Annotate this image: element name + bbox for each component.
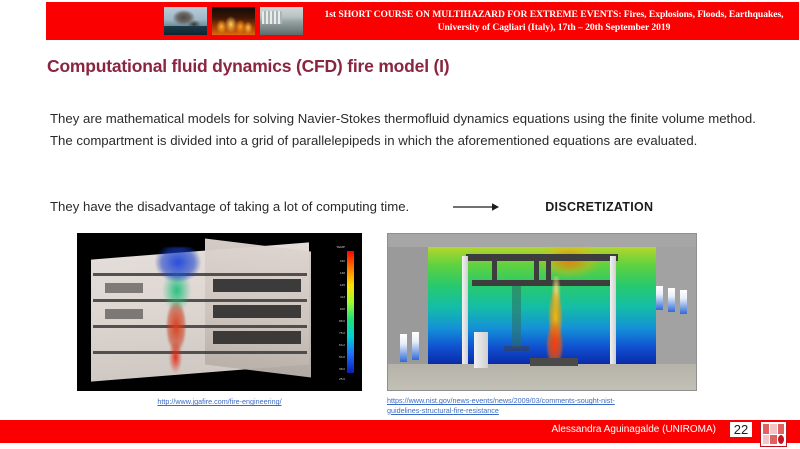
flood-thumbnail — [260, 7, 303, 35]
logo-grid — [763, 424, 784, 444]
temperature-colorbar: TEMP 150 138 125 113 100 88.0 75.0 63.2 … — [316, 241, 356, 383]
room-floor — [388, 364, 696, 390]
support-post-right — [610, 256, 616, 364]
logo-cell — [770, 424, 776, 434]
colorbar-gradient — [347, 251, 354, 373]
window-opening — [680, 290, 687, 314]
colorbar-tick: 150 — [340, 259, 345, 263]
course-title-line-1: 1st SHORT COURSE ON MULTIHAZARD FOR EXTR… — [317, 8, 791, 21]
colorbar-unit-label: TEMP — [336, 245, 345, 249]
left-figure-source-link[interactable]: http://www.jgafire.com/fire-engineering/ — [77, 397, 362, 406]
course-title-line-2: University of Cagliari (Italy), 17th – 2… — [317, 21, 791, 34]
header-thumbnail-strip — [164, 7, 303, 35]
building-interior-shadow — [213, 305, 301, 318]
colorbar-tick: 38.0 — [339, 367, 345, 371]
doorway-jamb — [474, 332, 488, 368]
compartment-fire-simulation — [387, 233, 697, 391]
body-paragraph-2: They have the disadvantage of taking a l… — [50, 199, 409, 214]
university-logo — [760, 421, 787, 447]
colorbar-tick: 100 — [340, 307, 345, 311]
window-opening — [412, 332, 419, 360]
logo-cell — [778, 424, 784, 434]
logo-cell — [770, 435, 776, 445]
right-figure-source-link[interactable]: https://www.nist.gov/news-events/news/20… — [387, 396, 687, 415]
fire-thumbnail — [212, 7, 255, 35]
building-interior-shadow — [105, 309, 143, 319]
smoke-plume — [147, 247, 209, 375]
colorbar-tick: 113 — [340, 295, 345, 299]
right-figure-source-line-1[interactable]: https://www.nist.gov/news-events/news/20… — [387, 396, 615, 405]
support-post-left — [462, 256, 468, 364]
building-interior-shadow — [213, 331, 301, 344]
colorbar-tick: 138 — [340, 271, 345, 275]
window-opening — [656, 286, 663, 310]
colorbar-tick: 75.0 — [339, 331, 345, 335]
page-title: Computational fluid dynamics (CFD) fire … — [47, 56, 449, 77]
explosion-thumbnail — [164, 7, 207, 35]
building-model — [85, 243, 323, 383]
window-opening — [668, 288, 675, 312]
arrow-right-icon — [453, 201, 499, 213]
column-base-plate — [504, 346, 529, 351]
course-header-title: 1st SHORT COURSE ON MULTIHAZARD FOR EXTR… — [303, 8, 799, 34]
building-interior-shadow — [105, 283, 143, 293]
colorbar-ticks: TEMP 150 138 125 113 100 88.0 75.0 63.2 … — [319, 245, 345, 379]
fire-burner-pan — [530, 358, 578, 366]
steel-beam-web — [492, 260, 497, 280]
room-ceiling — [388, 234, 696, 247]
colorbar-tick: 50.0 — [339, 355, 345, 359]
footer-author: Alessandra Aguinagalde (UNIROMA) — [0, 424, 716, 435]
steel-beam-top — [466, 254, 618, 261]
colorbar-tick: 88.0 — [339, 319, 345, 323]
building-interior-shadow — [213, 279, 301, 292]
logo-cell — [763, 424, 769, 434]
body-paragraph-1: They are mathematical models for solving… — [50, 108, 756, 151]
header-banner: 1st SHORT COURSE ON MULTIHAZARD FOR EXTR… — [46, 2, 799, 40]
steel-column — [512, 286, 521, 348]
colorbar-tick: 63.2 — [339, 343, 345, 347]
cfd-building-simulation: TEMP 150 138 125 113 100 88.0 75.0 63.2 … — [77, 233, 362, 391]
colorbar-tick: 125 — [340, 283, 345, 287]
discretization-callout: DISCRETIZATION — [545, 200, 653, 214]
window-opening — [400, 334, 407, 362]
logo-cell — [763, 435, 769, 445]
colorbar-tick: 25.0 — [339, 377, 345, 381]
right-figure-source-line-2[interactable]: guidelines-structural-fire-resistance — [387, 406, 499, 415]
logo-cell-dot — [778, 435, 784, 445]
fire-plume — [536, 276, 572, 364]
body-paragraph-2-row: They have the disadvantage of taking a l… — [50, 199, 756, 214]
page-number: 22 — [730, 422, 752, 437]
